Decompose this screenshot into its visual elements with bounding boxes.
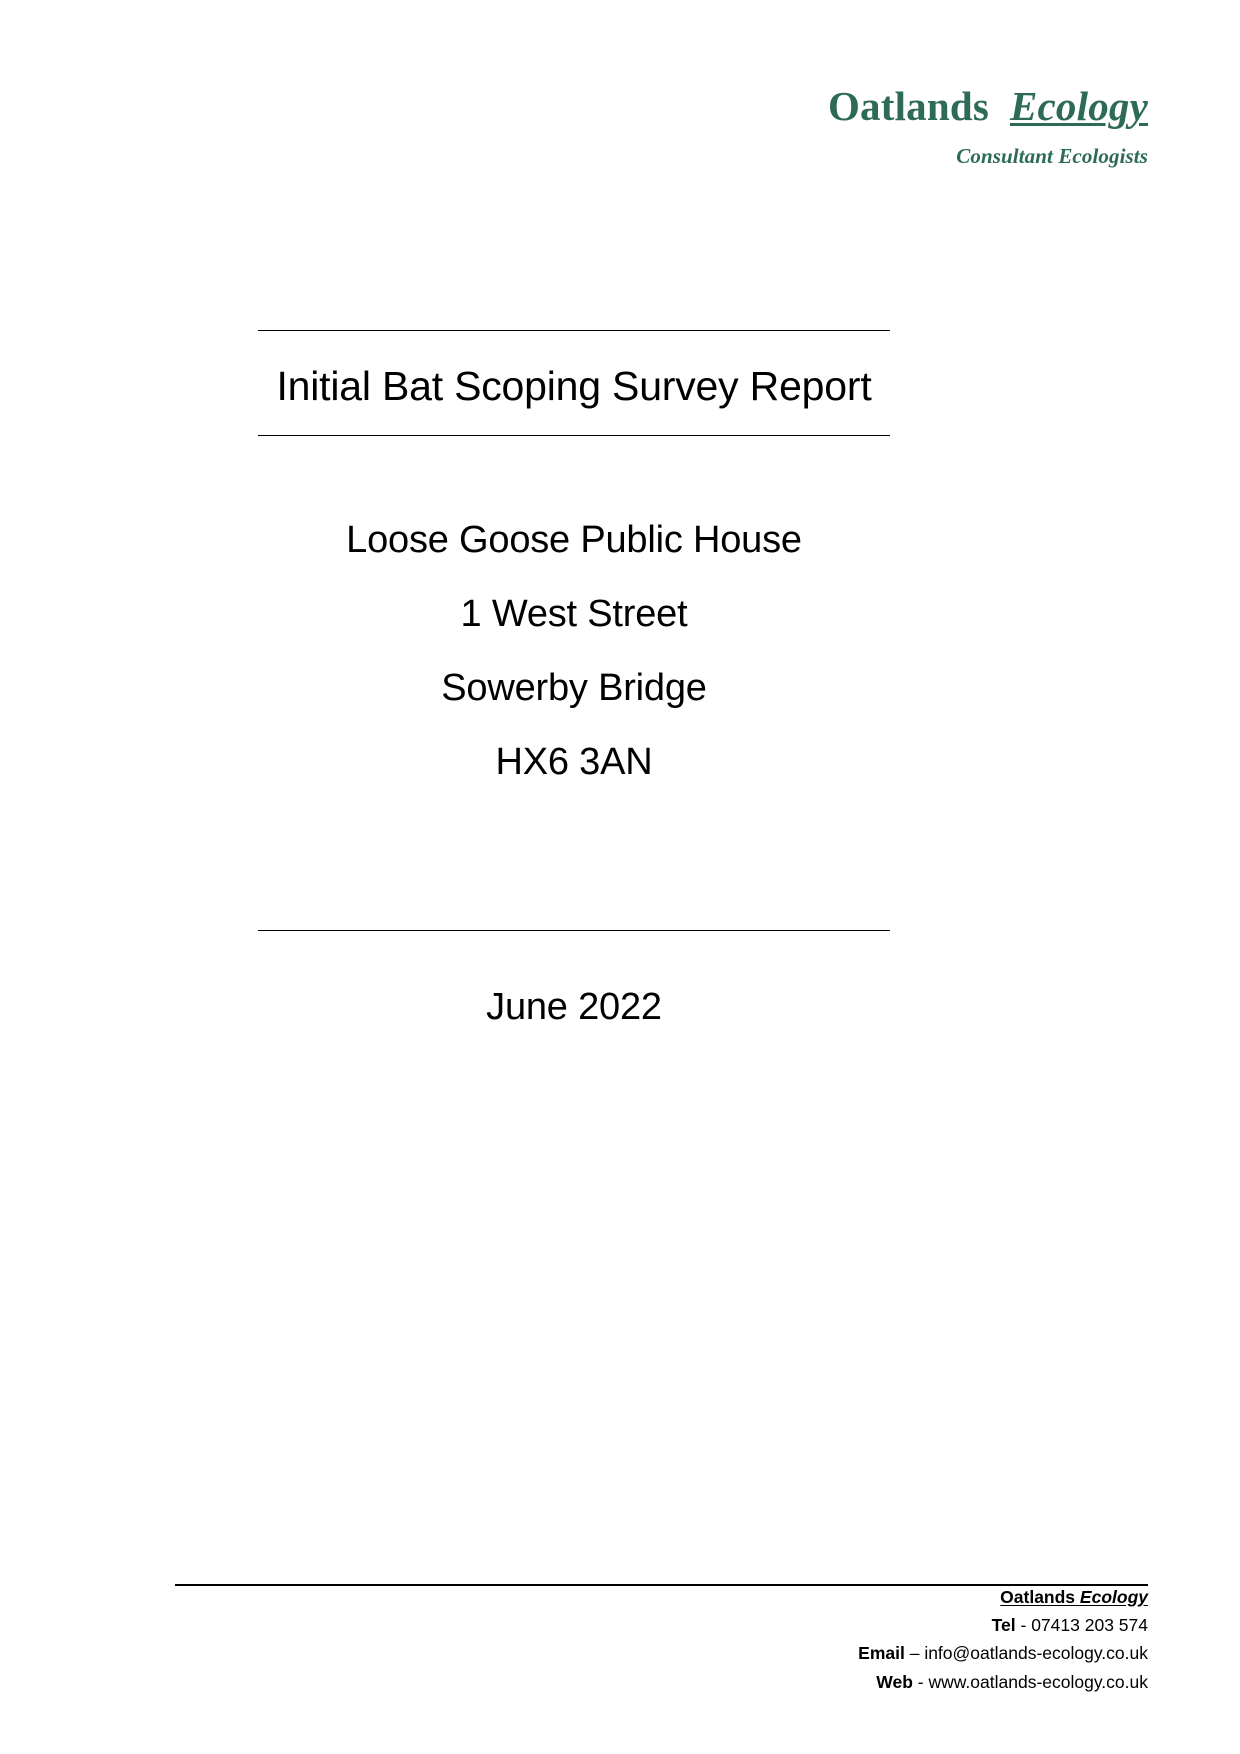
company-tagline: Consultant Ecologists	[0, 144, 1148, 169]
footer-company-primary: Oatlands	[1000, 1587, 1075, 1607]
site-address-line: Loose Goose Public House	[258, 505, 890, 595]
footer-email-separator: –	[905, 1643, 924, 1663]
footer-tel-line: Tel - 07413 203 574	[0, 1611, 1148, 1639]
report-date: June 2022	[258, 931, 890, 1026]
document-page: Oatlands Ecology Consultant Ecologists I…	[0, 0, 1240, 1754]
site-address-block: Loose Goose Public House 1 West Street S…	[258, 505, 890, 817]
footer-company-secondary: Ecology	[1080, 1587, 1148, 1607]
date-block: June 2022	[258, 930, 890, 1026]
company-logo-wordmark: Oatlands Ecology	[0, 82, 1148, 130]
footer-tel-value: 07413 203 574	[1031, 1615, 1148, 1635]
title-block: Initial Bat Scoping Survey Report	[258, 330, 890, 436]
footer-email-line: Email – info@oatlands-ecology.co.uk	[0, 1639, 1148, 1667]
footer-tel-label: Tel	[992, 1615, 1016, 1635]
page-title: Initial Bat Scoping Survey Report	[258, 331, 890, 435]
footer-tel-separator: -	[1016, 1615, 1032, 1635]
title-rule-bottom	[258, 435, 890, 436]
footer-company-line: Oatlands Ecology	[0, 1583, 1148, 1611]
footer-web-line: Web - www.oatlands-ecology.co.uk	[0, 1668, 1148, 1696]
letterhead: Oatlands Ecology Consultant Ecologists	[0, 82, 1148, 169]
site-address-line: Sowerby Bridge	[258, 669, 890, 743]
footer-contact-block: Oatlands Ecology Tel - 07413 203 574 Ema…	[0, 1583, 1148, 1696]
footer-web-separator: -	[913, 1672, 929, 1692]
company-name-secondary: Ecology	[1010, 83, 1148, 129]
site-address-line: HX6 3AN	[258, 743, 890, 817]
footer-web-label: Web	[876, 1672, 913, 1692]
company-name-primary: Oatlands	[828, 83, 989, 129]
footer-email-value[interactable]: info@oatlands-ecology.co.uk	[924, 1643, 1148, 1663]
site-address-line: 1 West Street	[258, 595, 890, 669]
footer-company-name: Oatlands Ecology	[1000, 1587, 1148, 1607]
footer-web-value[interactable]: www.oatlands-ecology.co.uk	[928, 1672, 1148, 1692]
footer-email-label: Email	[858, 1643, 905, 1663]
